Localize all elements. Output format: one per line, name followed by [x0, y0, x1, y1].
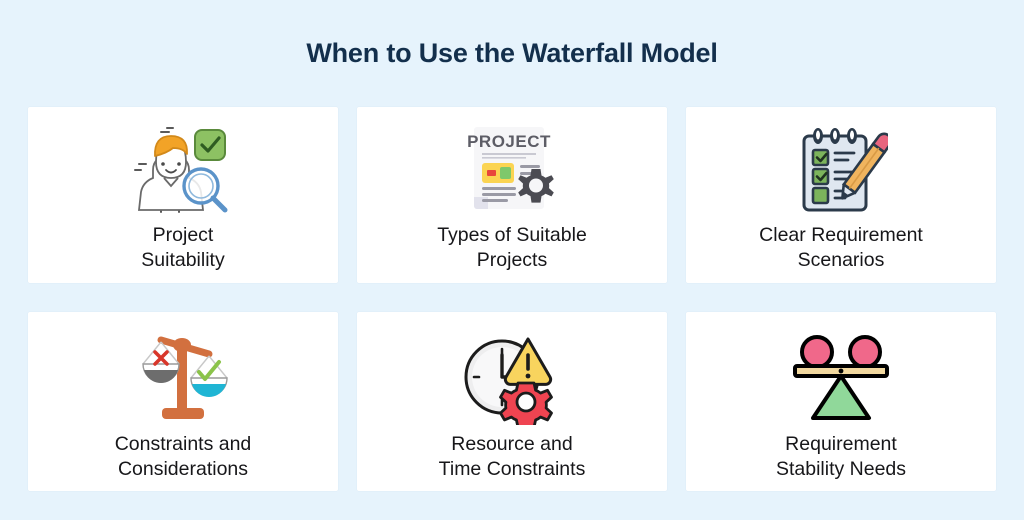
card-clear-requirement-scenarios[interactable]: Clear Requirement Scenarios — [686, 107, 996, 283]
card-label: Constraints and Considerations — [105, 432, 262, 482]
project-document-with-gear-icon: PROJECT — [466, 121, 558, 219]
checklist-notepad-with-pencil-icon — [794, 121, 888, 219]
card-label: Project Suitability — [131, 223, 234, 273]
page-title: When to Use the Waterfall Model — [0, 38, 1024, 69]
balance-scale-with-x-and-check-icon — [131, 326, 235, 430]
card-types-of-suitable-projects[interactable]: PROJECT — [357, 107, 667, 283]
card-resource-and-time-constraints[interactable]: Resource and Time Constraints — [357, 312, 667, 491]
document-heading: PROJECT — [467, 132, 551, 151]
seesaw-balance-icon — [791, 326, 891, 430]
card-constraints-and-considerations[interactable]: Constraints and Considerations — [28, 312, 338, 491]
clock-with-warning-and-gear-icon — [460, 326, 564, 430]
card-grid: Project Suitability PROJECT — [28, 107, 996, 491]
card-label: Resource and Time Constraints — [429, 432, 596, 482]
card-label: Requirement Stability Needs — [766, 432, 916, 482]
card-project-suitability[interactable]: Project Suitability — [28, 107, 338, 283]
card-label: Clear Requirement Scenarios — [749, 223, 933, 273]
card-requirement-stability-needs[interactable]: Requirement Stability Needs — [686, 312, 996, 491]
card-label: Types of Suitable Projects — [427, 223, 597, 273]
person-with-checkmark-and-magnifier-icon — [131, 121, 235, 219]
slide-canvas: When to Use the Waterfall Model — [0, 0, 1024, 520]
